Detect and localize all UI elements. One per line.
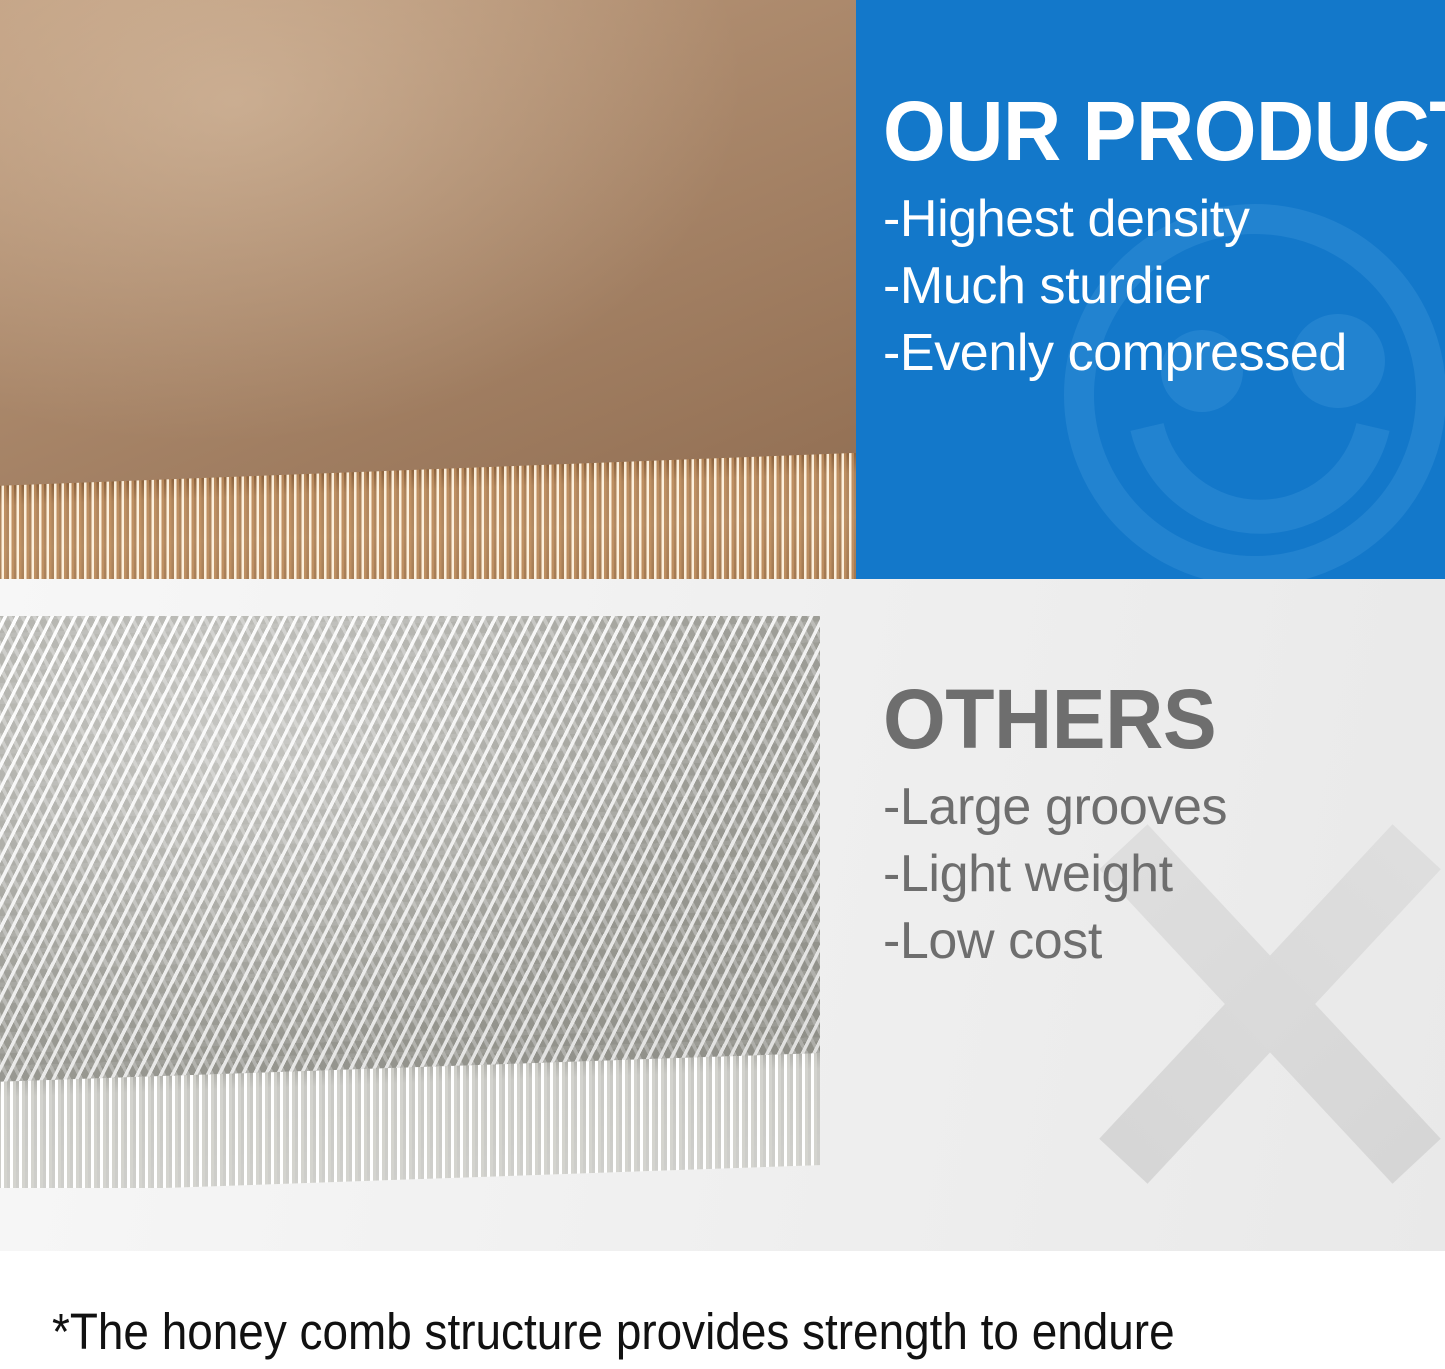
our-product-heading: OUR PRODUCT <box>883 92 1406 172</box>
our-product-bullet-list: -Highest density -Much sturdier -Evenly … <box>883 186 1428 387</box>
tan-honeycomb-top-face <box>0 0 856 526</box>
our-product-cardboard-image <box>0 0 856 579</box>
our-product-bullet-3: -Evenly compressed <box>883 320 1428 387</box>
others-text-block: OTHERS -Large grooves -Light weight -Low… <box>883 680 1428 975</box>
our-product-bullet-2: -Much sturdier <box>883 253 1428 320</box>
our-product-text-block: OUR PRODUCT -Highest density -Much sturd… <box>883 92 1428 387</box>
footnote-text: *The honey comb structure provides stren… <box>52 1299 1267 1369</box>
others-bullet-3: -Low cost <box>883 908 1428 975</box>
others-bullet-1: -Large grooves <box>883 774 1428 841</box>
white-honeycomb-top-face <box>0 616 820 1120</box>
product-comparison-infographic: OUR PRODUCT -Highest density -Much sturd… <box>0 0 1445 1369</box>
others-cardboard-image <box>0 616 820 1188</box>
others-bullet-list: -Large grooves -Light weight -Low cost <box>883 774 1428 975</box>
others-bullet-2: -Light weight <box>883 841 1428 908</box>
others-heading: OTHERS <box>883 680 1406 760</box>
our-product-bullet-1: -Highest density <box>883 186 1428 253</box>
